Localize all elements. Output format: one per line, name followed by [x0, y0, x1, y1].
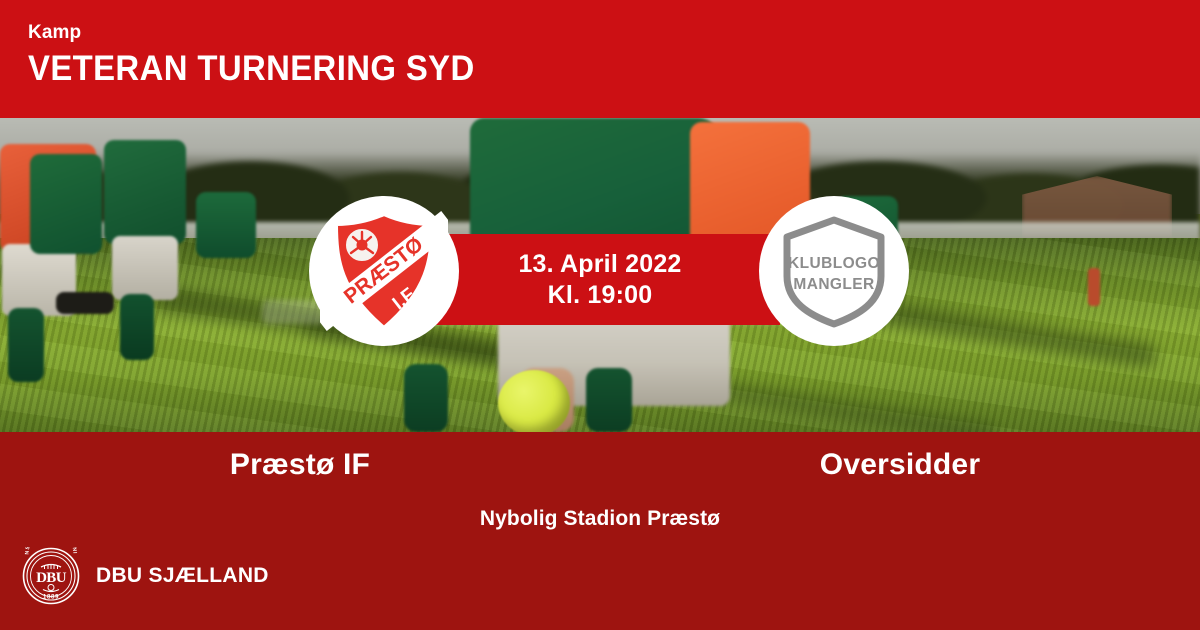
page-title: VETERAN TURNERING SYD [28, 48, 1130, 90]
photo-foreground-sock [586, 368, 632, 432]
photo-foreground-sock [404, 364, 448, 432]
photo-player [104, 140, 186, 244]
photo-player [56, 292, 114, 314]
home-team-name: Præstø IF [0, 445, 600, 485]
missing-club-logo-icon: KLUBLOGO MANGLER [773, 210, 895, 332]
match-datetime-banner: 13. April 2022 Kl. 19:00 [420, 234, 780, 325]
photo-player [196, 192, 256, 258]
dbu-monogram: DBU [36, 570, 67, 586]
home-team-logo: PRÆSTØ I.F. [309, 196, 459, 346]
away-team-logo: KLUBLOGO MANGLER [759, 196, 909, 346]
match-poster: Kamp VETERAN TURNERING SYD [0, 0, 1200, 630]
match-date: 13. April 2022 [518, 249, 681, 280]
photo-player [8, 308, 44, 382]
photo-player [120, 294, 154, 360]
match-time: Kl. 19:00 [548, 280, 653, 311]
crest-football-icon [345, 228, 379, 262]
team-names-row: Præstø IF Oversidder [0, 440, 1200, 490]
dbu-founding-year: 1889 [43, 594, 59, 601]
away-team-name: Oversidder [600, 445, 1200, 485]
missing-logo-line1: KLUBLOGO [788, 255, 880, 272]
poster-header: Kamp VETERAN TURNERING SYD [0, 0, 1200, 118]
praesto-if-crest-icon: PRÆSTØ I.F. [320, 207, 448, 335]
organisation-footer: DANSK · BOLDSPIL · UNION DBU 1889 DBU SJ… [22, 547, 269, 605]
football-icon [498, 370, 570, 432]
match-venue: Nybolig Stadion Præstø [0, 505, 1200, 533]
photo-player [30, 154, 102, 254]
header-eyebrow: Kamp [28, 22, 1200, 44]
photo-player [1088, 268, 1100, 306]
organisation-name: DBU SJÆLLAND [96, 563, 269, 589]
dbu-emblem-icon: DANSK · BOLDSPIL · UNION DBU 1889 [22, 547, 80, 605]
photo-player [112, 236, 178, 300]
missing-logo-line2: MANGLER [793, 276, 874, 293]
